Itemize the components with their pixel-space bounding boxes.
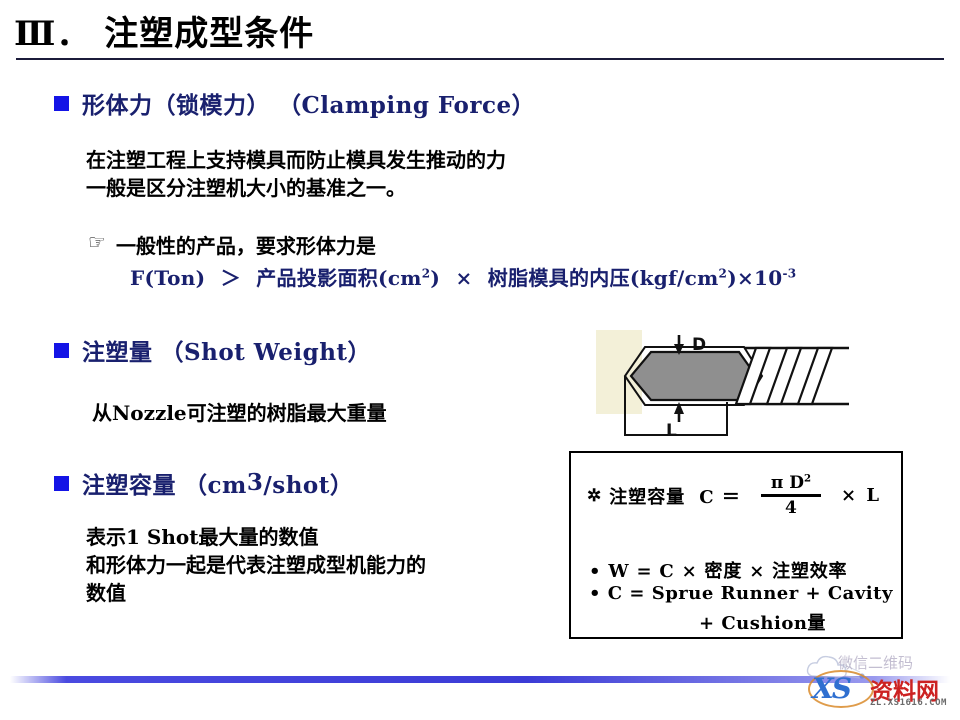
diagram-label-d: D [692, 335, 706, 355]
section-heading-en-text: （Clamping Force） [278, 86, 535, 120]
pointing-hand-icon: ☞ [88, 232, 106, 252]
clamping-force-body-line-2: 一般是区分注塑机大小的基准之一。 [86, 175, 406, 201]
screw-cross-section-diagram: D L [596, 330, 896, 442]
formula-op-mul-2: × [737, 266, 754, 290]
formula-volume-tail: × L [841, 485, 881, 506]
clamping-force-formula: F(Ton) ＞ 产品投影面积(cm2) × 树脂模具的内压(kgf/cm2)×… [130, 262, 796, 291]
section-heading-unit-pre: （cm [184, 466, 247, 500]
pointer-note-text: 一般性的产品，要求形体力是 [116, 230, 376, 259]
square-bullet-icon [54, 343, 69, 358]
formula-term1: 产品投影面积(cm [256, 266, 422, 290]
formula-op-gt: ＞ [221, 266, 241, 290]
diagram-label-l: L [666, 421, 677, 441]
section-heading-cn-text: 形体力（锁模力） [82, 86, 270, 120]
watermark-logo-text: XS [812, 672, 850, 705]
formula-term3: 10 [754, 266, 782, 290]
slide-canvas: Ⅲ． 注塑成型条件 形体力（锁模力） （Clamping Force） 在注塑工… [0, 0, 960, 720]
shot-volume-body-line-1: 表示1 Shot最大量的数值 [86, 524, 318, 550]
screw-diagram-svg: D L [596, 330, 896, 442]
formula-term2-sup: 2 [719, 266, 728, 280]
formula-capacity-line-cont: + Cushion量 [699, 609, 826, 635]
section-heading-shot-volume: 注塑容量 （cm3/shot） [54, 466, 353, 500]
square-bullet-icon [54, 476, 69, 491]
watermark: 微信二维码 XS 资料网 ZL.XS1616.COM [800, 652, 955, 714]
square-bullet-icon [54, 96, 69, 111]
section-heading-unit-post: /shot） [263, 466, 353, 500]
formula-term2: 树脂模具的内压(kgf/cm [488, 266, 719, 290]
shot-weight-body-line-1: 从Nozzle可注塑的树脂最大重量 [92, 400, 387, 426]
fraction-denominator: 4 [785, 497, 797, 518]
asterisk-marker-icon: ✲ [587, 486, 601, 506]
formula-lhs: F(Ton) [130, 266, 205, 290]
formula-weight-line: • W = C × 密度 × 注塑效率 [589, 557, 847, 583]
formula-volume-label: 注塑容量 [609, 483, 685, 509]
section-heading-en-text: （Shot Weight） [161, 333, 372, 367]
shot-volume-body-line-2: 和形体力一起是代表注塑成型机能力的 [86, 552, 426, 578]
formula-term1-end: ) [430, 266, 440, 290]
pointer-note-row: ☞ 一般性的产品，要求形体力是 [88, 230, 376, 259]
shot-volume-body-line-3: 数值 [86, 580, 126, 606]
formula-volume-row: ✲ 注塑容量 C ＝ π D2 4 × L [587, 473, 881, 518]
formula-fraction: π D2 4 [761, 473, 821, 518]
section-heading-cn-text: 注塑量 [82, 333, 153, 367]
section-heading-clamping-force: 形体力（锁模力） （Clamping Force） [54, 86, 535, 120]
clamping-force-body-line-1: 在注塑工程上支持模具而防止模具发生推动的力 [86, 147, 506, 173]
formula-term3-sup: -3 [782, 266, 796, 280]
section-heading-cn-text: 注塑容量 [82, 466, 176, 500]
formula-op-mul-1: × [455, 266, 472, 290]
formula-capacity-line: • C = Sprue Runner + Cavity [589, 583, 893, 604]
formula-volume-lhs: C ＝ [699, 483, 741, 509]
formula-term2-end: ) [727, 266, 737, 290]
fraction-numerator-sup: 2 [804, 472, 811, 484]
section-heading-shot-weight: 注塑量 （Shot Weight） [54, 333, 371, 367]
title-divider [16, 58, 944, 60]
fraction-numerator: π D2 [761, 473, 821, 494]
shot-volume-formula-box: ✲ 注塑容量 C ＝ π D2 4 × L • W = C × 密度 × 注塑效… [569, 451, 903, 639]
page-title: Ⅲ． 注塑成型条件 [14, 6, 314, 55]
watermark-url-text: ZL.XS1616.COM [870, 698, 947, 708]
